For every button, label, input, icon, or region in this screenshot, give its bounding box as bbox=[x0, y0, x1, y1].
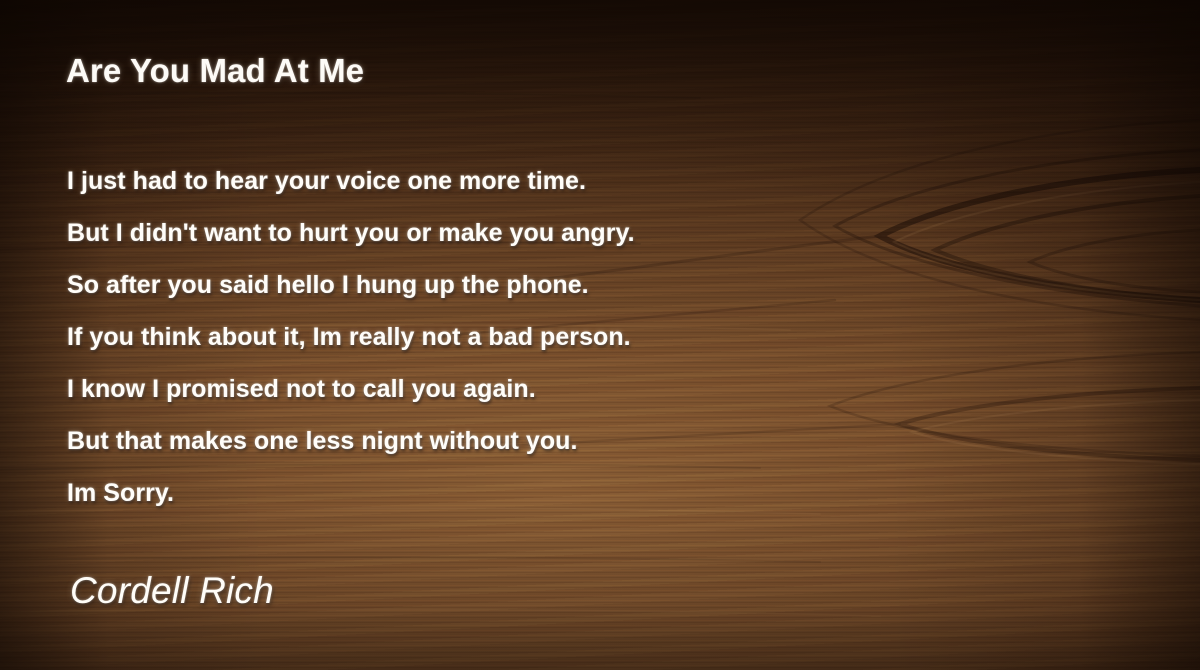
poem-line: But I didn't want to hurt you or make yo… bbox=[67, 207, 1127, 259]
poem-line: I know I promised not to call you again. bbox=[67, 363, 1127, 415]
poem-line: If you think about it, Im really not a b… bbox=[67, 311, 1127, 363]
poem-title: Are You Mad At Me bbox=[66, 52, 364, 90]
poem-line: Im Sorry. bbox=[67, 467, 1127, 519]
poem-line: I just had to hear your voice one more t… bbox=[67, 155, 1127, 207]
poem-author-signature: Cordell Rich bbox=[70, 570, 274, 612]
poem-image-card: Are You Mad At Me I just had to hear you… bbox=[0, 0, 1200, 670]
poem-line: But that makes one less nignt without yo… bbox=[67, 415, 1127, 467]
poem-body: I just had to hear your voice one more t… bbox=[67, 155, 1127, 519]
poem-text-overlay: Are You Mad At Me I just had to hear you… bbox=[0, 0, 1200, 670]
poem-line: So after you said hello I hung up the ph… bbox=[67, 259, 1127, 311]
